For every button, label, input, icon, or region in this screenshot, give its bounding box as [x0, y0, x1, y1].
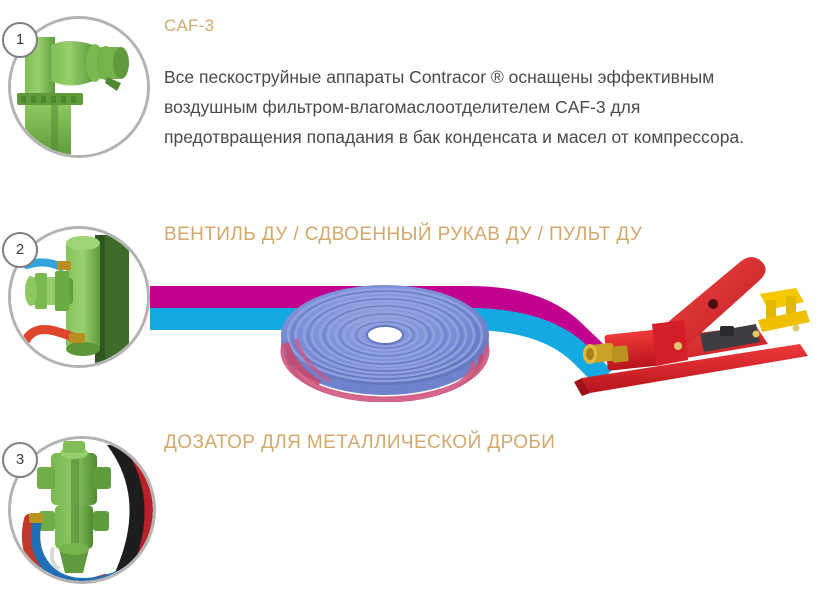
- marker-2-label: 2: [16, 241, 24, 258]
- infographic-page: 1 CAF-3 Все пескоструйные аппараты Contr…: [0, 0, 818, 600]
- marker-3-label: 3: [16, 451, 24, 468]
- hose-coil-icon: [280, 277, 490, 402]
- red-remote-control-deadman-handle: [560, 248, 818, 408]
- marker-2: 2: [2, 232, 38, 268]
- deadman-handle-icon: [560, 248, 818, 408]
- marker-1-label: 1: [16, 31, 24, 48]
- marker-3: 3: [2, 442, 38, 478]
- section-title-3: ДОЗАТОР ДЛЯ МЕТАЛЛИЧЕСКОЙ ДРОБИ: [164, 432, 555, 454]
- marker-1: 1: [2, 22, 38, 58]
- twin-remote-control-hose-coil: [280, 277, 490, 402]
- brass-coupling-icon: [583, 343, 629, 364]
- yellow-clamp-icon: [758, 288, 810, 332]
